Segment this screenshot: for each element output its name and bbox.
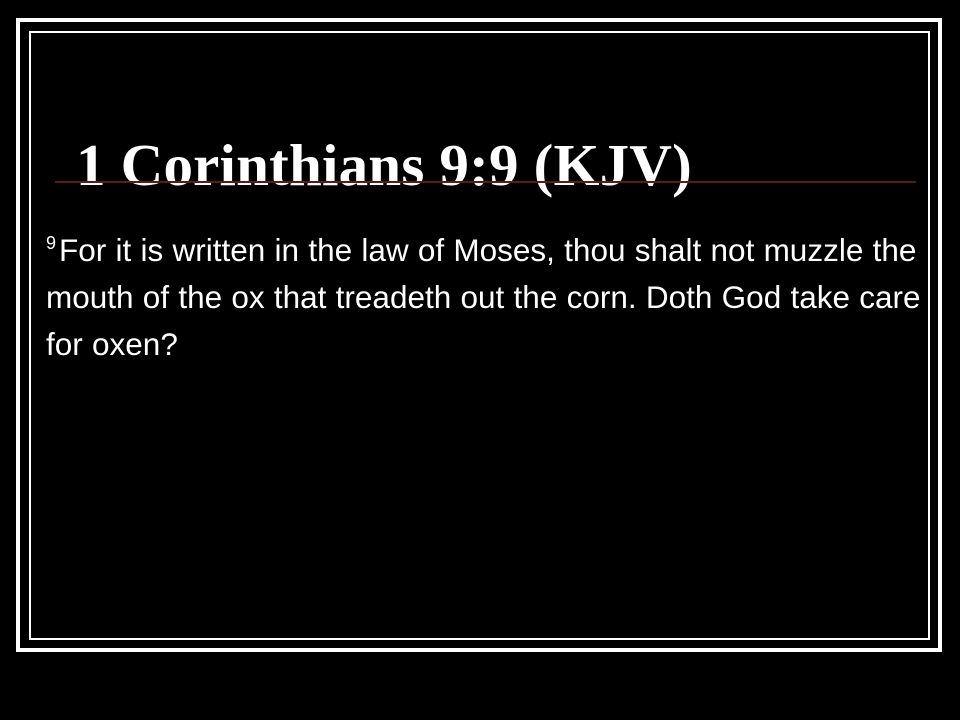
verse-body-text: 9For it is written in the law of Moses, … xyxy=(46,227,922,368)
verse-text: For it is written in the law of Moses, t… xyxy=(46,232,921,362)
title-divider-rule xyxy=(55,181,916,183)
presentation-slide: 1 Corinthians 9:9 (KJV) 9For it is writt… xyxy=(0,0,960,720)
slide-content-area: 1 Corinthians 9:9 (KJV) 9For it is writt… xyxy=(36,38,924,633)
verse-number-superscript: 9 xyxy=(46,233,59,253)
slide-title: 1 Corinthians 9:9 (KJV) xyxy=(76,134,896,198)
